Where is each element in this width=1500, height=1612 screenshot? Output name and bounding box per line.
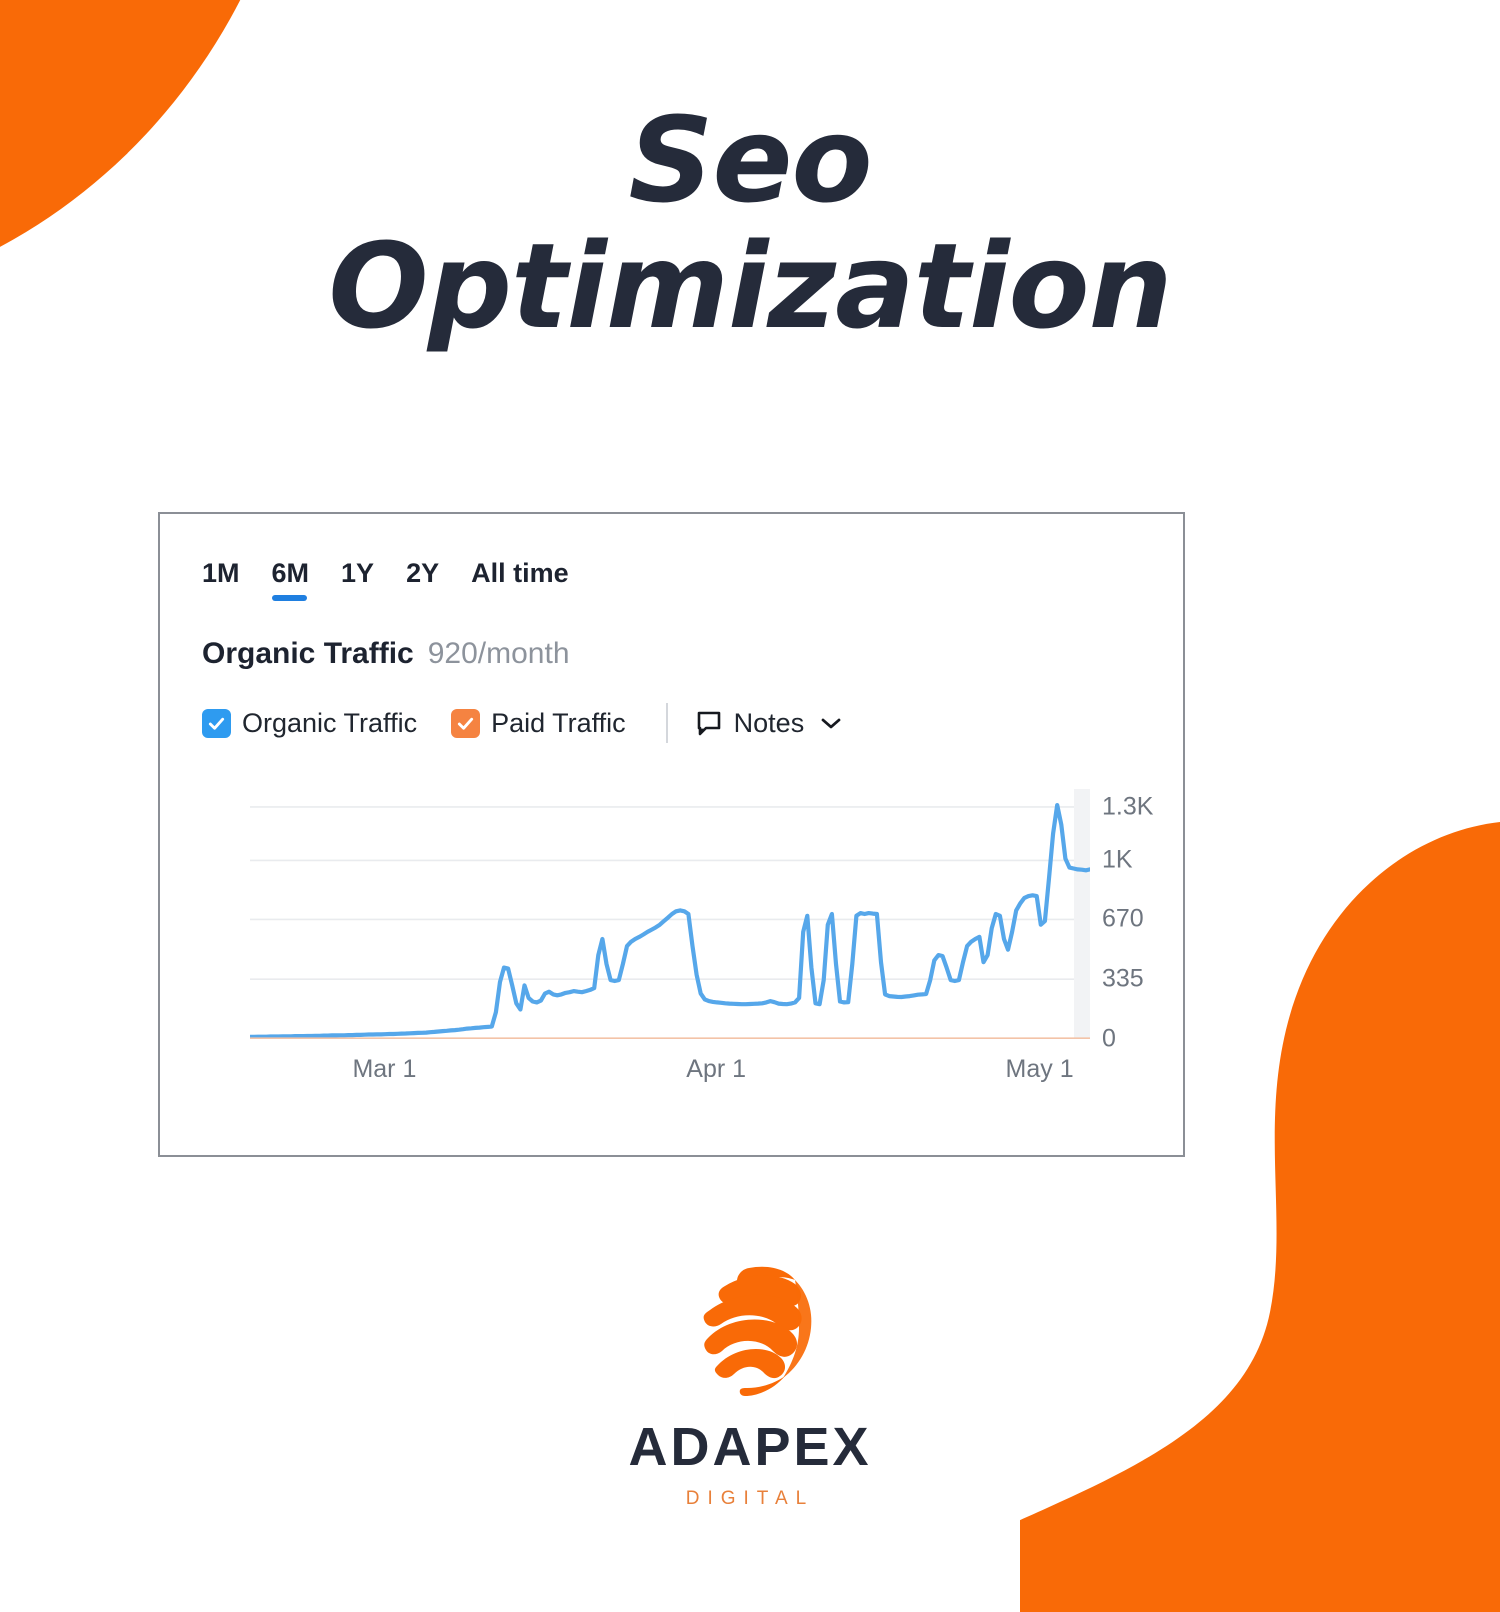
- tab-1y[interactable]: 1Y: [341, 558, 374, 601]
- title-line-1: Seo: [0, 100, 1500, 220]
- metric-label: Organic Traffic: [202, 637, 414, 671]
- legend-label-paid-traffic: Paid Traffic: [491, 708, 626, 739]
- x-axis-tick: Mar 1: [352, 1055, 416, 1084]
- tab-1m[interactable]: 1M: [202, 558, 240, 601]
- y-axis-tick: 670: [1102, 905, 1144, 934]
- x-axis-tick: May 1: [1006, 1055, 1074, 1084]
- globe-swoosh-icon: [675, 1258, 825, 1408]
- legend-label-organic-traffic: Organic Traffic: [242, 708, 417, 739]
- tab-1m-label: 1M: [202, 558, 240, 588]
- legend-item-paid-traffic[interactable]: Paid Traffic: [451, 708, 626, 739]
- brand-logo: ADAPEX DIGITAL: [0, 1258, 1500, 1510]
- notes-label: Notes: [734, 708, 805, 739]
- tab-active-underline: [272, 595, 308, 601]
- page-title: Seo Optimization: [0, 100, 1500, 353]
- chart-plot-svg: [250, 789, 1090, 1039]
- tab-6m-label: 6M: [272, 558, 310, 588]
- chevron-down-icon: [820, 716, 842, 730]
- tab-2y[interactable]: 2Y: [406, 558, 439, 601]
- tab-all-time[interactable]: All time: [471, 558, 569, 601]
- chart-x-axis: Mar 1Apr 1May 1: [250, 1047, 1090, 1097]
- title-line-2: Optimization: [0, 220, 1500, 352]
- logo-tagline: DIGITAL: [686, 1488, 815, 1510]
- date-range-tabs: 1M 6M 1Y 2Y All time: [160, 514, 1183, 601]
- checkbox-paid-traffic[interactable]: [451, 709, 480, 738]
- metric-summary: Organic Traffic 920/month: [160, 601, 1183, 671]
- tab-1y-label: 1Y: [341, 558, 374, 588]
- y-axis-tick: 335: [1102, 965, 1144, 994]
- notes-dropdown[interactable]: Notes: [696, 708, 843, 739]
- legend-item-organic-traffic[interactable]: Organic Traffic: [202, 708, 417, 739]
- chart-y-axis: 1.3K1K6703350: [1102, 789, 1182, 1039]
- y-axis-tick: 1K: [1102, 846, 1133, 875]
- chart-legend: Organic Traffic Paid Traffic Notes: [160, 671, 1183, 743]
- traffic-chart: 1.3K1K6703350 Mar 1Apr 1May 1: [250, 789, 1185, 1119]
- traffic-analytics-card: 1M 6M 1Y 2Y All time Organic Traffic 920…: [158, 512, 1185, 1157]
- y-axis-tick: 0: [1102, 1025, 1116, 1054]
- y-axis-tick: 1.3K: [1102, 792, 1153, 821]
- checkbox-organic-traffic[interactable]: [202, 709, 231, 738]
- metric-value: 920/month: [428, 637, 570, 671]
- tab-6m[interactable]: 6M: [272, 558, 310, 601]
- tab-2y-label: 2Y: [406, 558, 439, 588]
- x-axis-tick: Apr 1: [686, 1055, 746, 1084]
- legend-divider: [666, 703, 668, 743]
- tab-all-time-label: All time: [471, 558, 569, 588]
- comment-bubble-icon: [696, 710, 722, 736]
- logo-wordmark: ADAPEX: [628, 1416, 871, 1478]
